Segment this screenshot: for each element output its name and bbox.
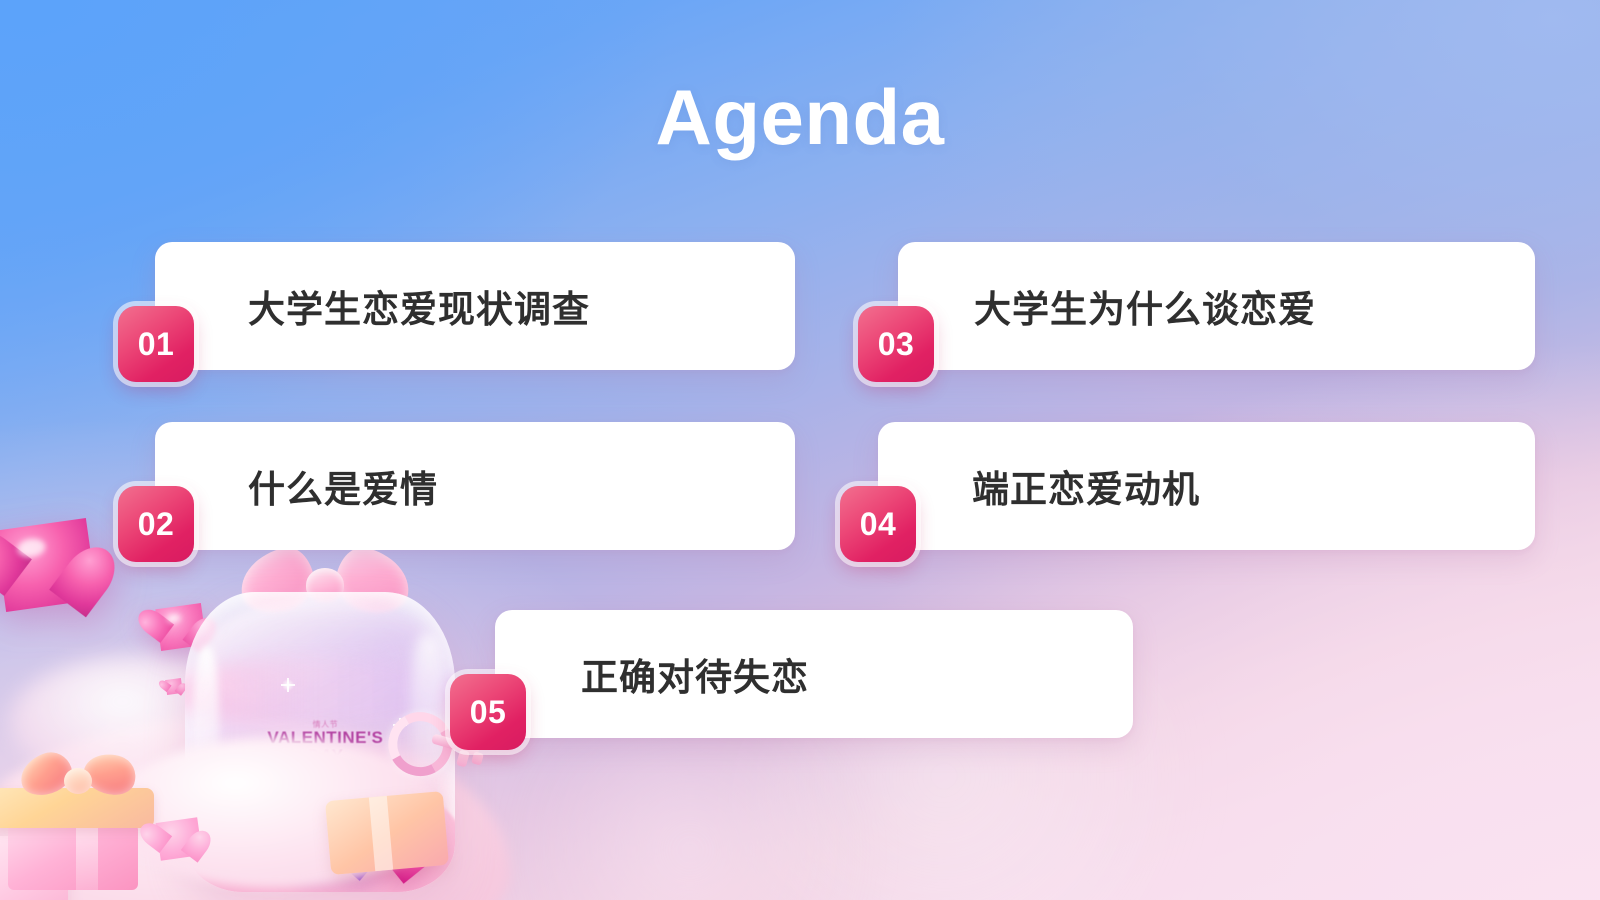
agenda-number-02: 02 [138,506,175,543]
agenda-card-03[interactable]: 大学生为什么谈恋爱 [898,242,1535,370]
agenda-card-05[interactable]: 正确对待失恋 [495,610,1133,738]
agenda-card-01[interactable]: 大学生恋爱现状调查 [155,242,795,370]
page-title: Agenda [0,78,1600,156]
agenda-number-04: 04 [860,506,897,543]
agenda-badge-02[interactable]: 02 [118,486,194,562]
agenda-badge-05[interactable]: 05 [450,674,526,750]
agenda-slide: 情人节 VALENTINE'S DAY 永恒 浪漫 甜蜜 [0,0,1600,900]
agenda-number-05: 05 [470,694,507,731]
agenda-label-04: 端正恋爱动机 [972,459,1200,513]
agenda-number-03: 03 [878,326,915,363]
agenda-label-03: 大学生为什么谈恋爱 [974,279,1316,333]
agenda-label-02: 什么是爱情 [248,459,438,513]
agenda-badge-03[interactable]: 03 [858,306,934,382]
agenda-badge-04[interactable]: 04 [840,486,916,562]
agenda-card-02[interactable]: 什么是爱情 [155,422,795,550]
agenda-label-01: 大学生恋爱现状调查 [248,279,590,333]
agenda-label-05: 正确对待失恋 [581,647,809,701]
agenda-badge-01[interactable]: 01 [118,306,194,382]
agenda-card-04[interactable]: 端正恋爱动机 [878,422,1535,550]
agenda-number-01: 01 [138,326,175,363]
